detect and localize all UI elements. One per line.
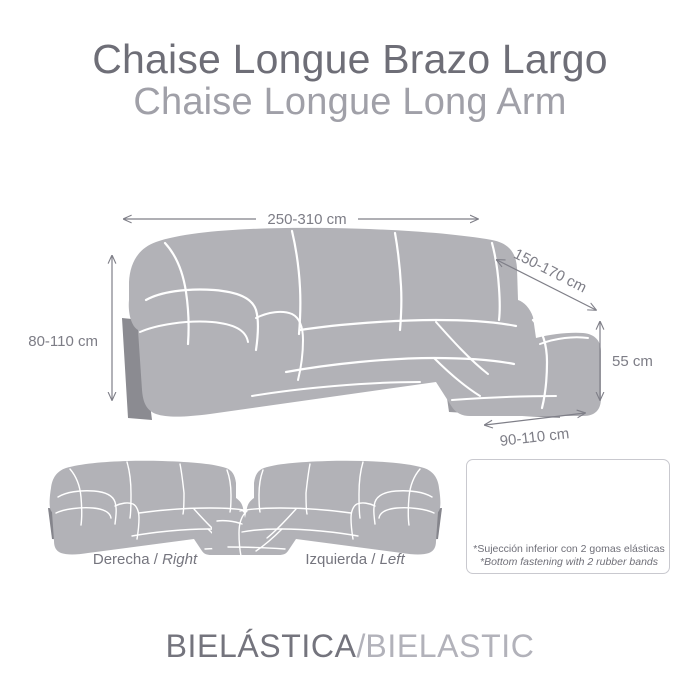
footer-label-es: BIELÁSTICA: [166, 628, 357, 664]
variant-right-separator: /: [150, 551, 163, 568]
fastening-note-line-es: *Sujección inferior con 2 gomas elástica…: [470, 543, 668, 556]
variant-left-label-es: Izquierda: [305, 551, 367, 568]
product-spec-sheet: Chaise Longue Brazo Largo Chaise Longue …: [0, 0, 700, 700]
variant-left-label-en: Left: [380, 551, 405, 568]
dimension-label-depth-diagonal: 150-170 cm: [511, 246, 589, 297]
dimension-chaise-width: 90-110 cm: [485, 413, 585, 450]
footer-label-en: BIELASTIC: [365, 628, 534, 664]
dimension-label-height-left: 80-110 cm: [28, 333, 98, 350]
variant-sofa-left: [212, 461, 442, 556]
dimension-width-top: 250-310 cm: [124, 211, 478, 228]
variant-left-separator: /: [367, 551, 380, 568]
diagram-stage: 250-310 cm 150-170 cm 80-110 cm 55 cm 90…: [0, 0, 700, 700]
fastening-note-text: *Sujección inferior con 2 gomas elástica…: [470, 543, 668, 569]
fastening-note-line-en: *Bottom fastening with 2 rubber bands: [470, 556, 668, 569]
dimension-height-left: 80-110 cm: [28, 256, 112, 400]
footer-block: BIELÁSTICA/BIELASTIC: [0, 628, 700, 665]
dimension-label-width-top: 250-310 cm: [267, 211, 346, 228]
variant-right-label-es: Derecha: [93, 551, 150, 568]
dimension-label-height-right: 55 cm: [612, 353, 653, 370]
dimension-label-chaise-width: 90-110 cm: [499, 425, 570, 450]
dimension-height-right: 55 cm: [600, 322, 653, 400]
variant-caption-right: Derecha / Right: [35, 551, 255, 568]
variant-caption-left: Izquierda / Left: [245, 551, 465, 568]
variant-right-label-en: Right: [162, 551, 197, 568]
